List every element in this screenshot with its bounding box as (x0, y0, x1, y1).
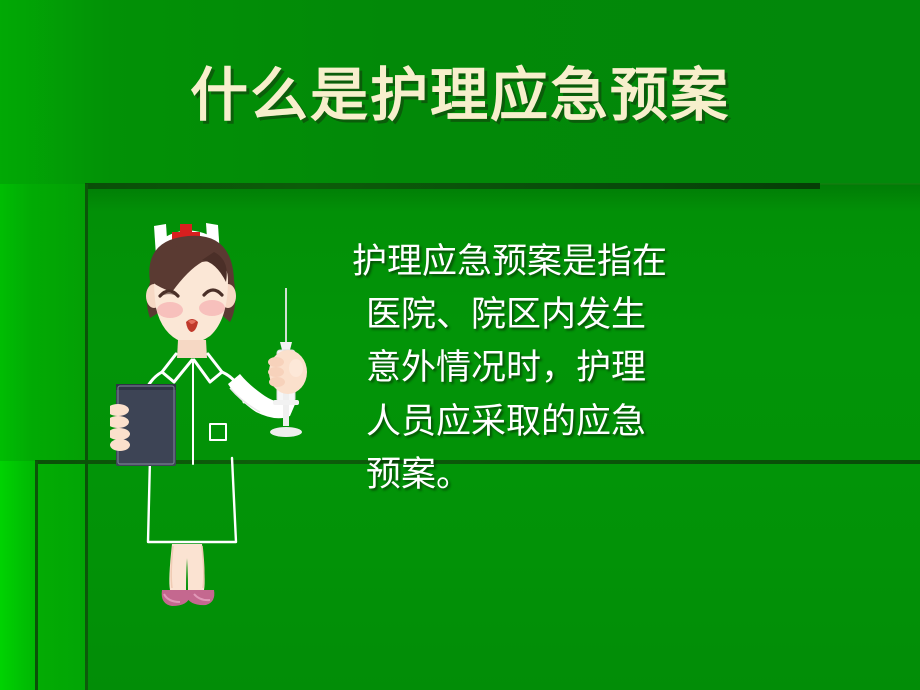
blush-left (157, 302, 183, 318)
hand-right (268, 350, 307, 394)
divider-rule-top (85, 183, 820, 189)
blush-right (199, 300, 225, 316)
slide-canvas: 什么是护理应急预案 护理应急预案是指在 医院、院区内发生 意外情况时，护理 人员… (0, 0, 920, 690)
slide-body-text: 护理应急预案是指在 医院、院区内发生 意外情况时，护理 人员应采取的应急 预案。 (352, 236, 752, 502)
body-line: 护理应急预案是指在 (352, 236, 752, 289)
background-inner-strip-bottom (35, 461, 85, 690)
panel-edge-vertical-outer (35, 461, 38, 690)
background-left-strip-bottom (0, 461, 35, 690)
background-left-strip-mid (0, 184, 85, 461)
body-line: 医院、院区内发生 (366, 289, 752, 342)
body-line: 预案。 (366, 449, 752, 502)
nurse-illustration (110, 196, 340, 616)
divider-rule-top-tail (820, 183, 920, 185)
body-line: 意外情况时，护理 (366, 342, 752, 395)
body-line: 人员应采取的应急 (366, 396, 752, 449)
shoes (162, 590, 215, 606)
panel-edge-vertical-inner (85, 184, 88, 690)
legs (169, 544, 204, 590)
slide-title: 什么是护理应急预案 (0, 64, 920, 128)
